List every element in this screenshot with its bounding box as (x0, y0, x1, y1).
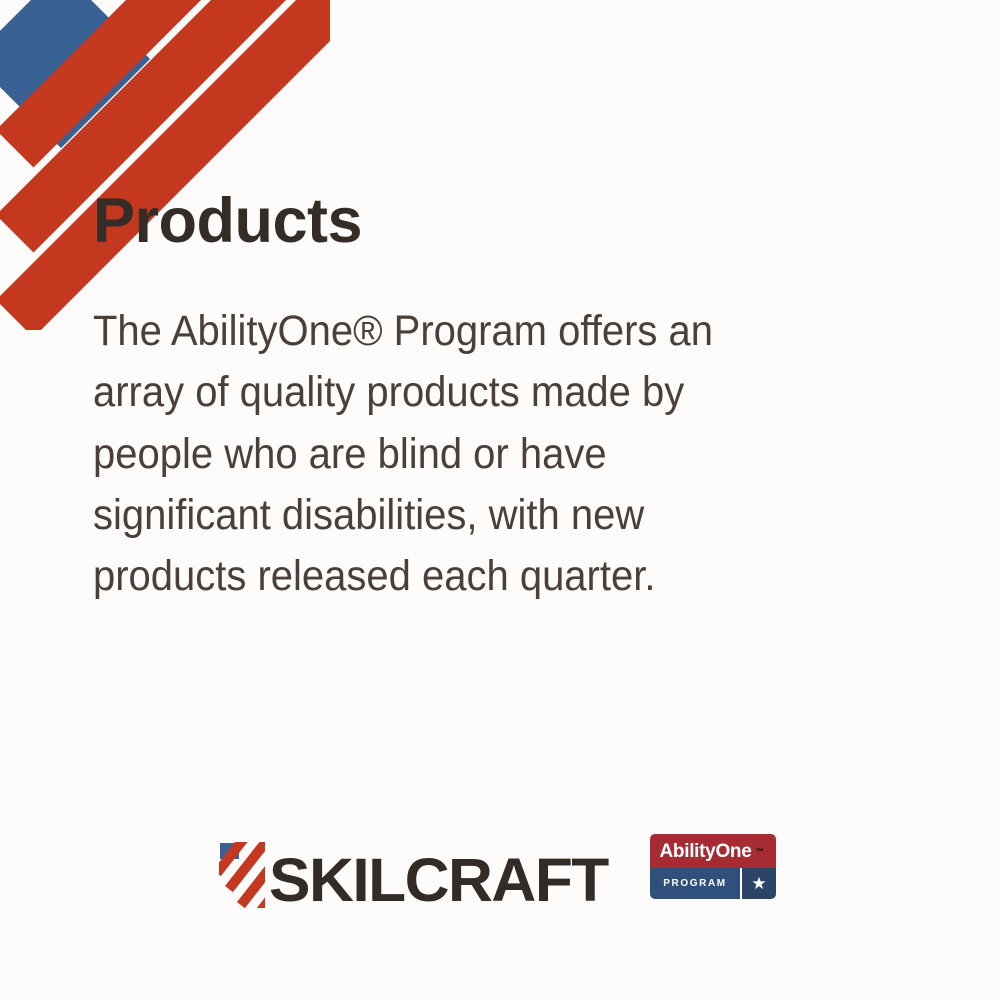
star-icon: ★ (751, 875, 766, 892)
abilityone-brand-block: AbilityOne™ (650, 834, 776, 868)
corner-blue-wedge (0, 0, 150, 148)
logo-row: SKILCRAFT AbilityOne™ PROGRAM ★ (0, 822, 1000, 932)
body-paragraph: The AbilityOne® Program offers an array … (93, 301, 781, 608)
page-title: Products (93, 186, 893, 257)
corner-red-stripe-1 (0, 0, 330, 167)
abilityone-brand-text: AbilityOne (659, 842, 751, 861)
content-block: Products The AbilityOne® Program offers … (93, 186, 893, 608)
skilcraft-flag-icon (219, 842, 265, 908)
slide-canvas: Products The AbilityOne® Program offers … (0, 0, 1000, 1000)
abilityone-program-bar: PROGRAM (650, 868, 742, 899)
abilityone-logo[interactable]: AbilityOne™ PROGRAM ★ (650, 834, 776, 899)
skilcraft-wordmark: SKILCRAFT (269, 852, 608, 910)
skilcraft-logo[interactable]: SKILCRAFT (219, 828, 601, 910)
abilityone-star-box: ★ (742, 868, 776, 899)
abilityone-program-text: PROGRAM (663, 879, 726, 889)
abilityone-trademark-mark: ™ (756, 847, 764, 856)
abilityone-program-block: PROGRAM ★ (650, 868, 776, 899)
